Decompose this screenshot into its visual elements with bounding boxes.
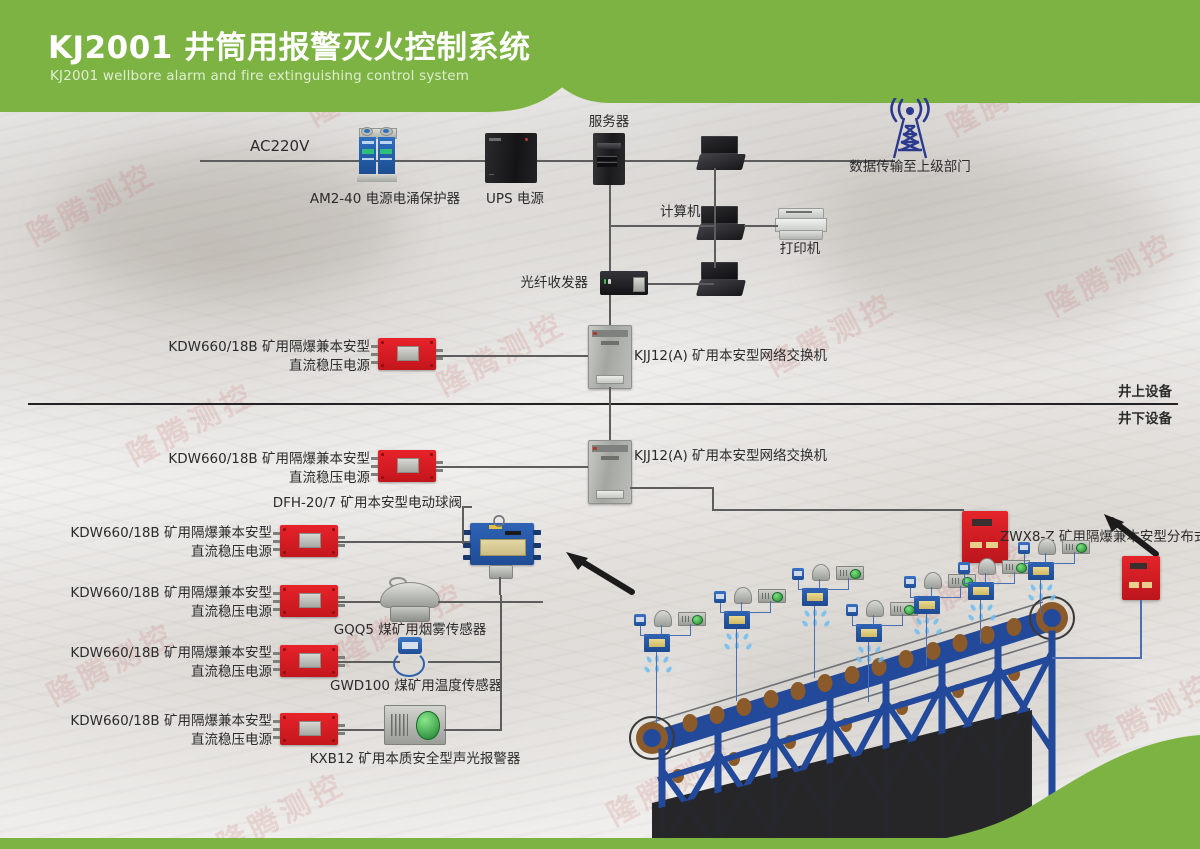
cable-lug <box>436 349 443 352</box>
bg-blob <box>820 160 1180 330</box>
spd-text <box>362 141 374 144</box>
label-above-ground: 井上设备 <box>1118 383 1172 402</box>
alarm-indicator-lamp <box>416 711 440 740</box>
cluster-temp-sensor[interactable] <box>634 614 646 626</box>
cluster-temp-sensor[interactable] <box>846 604 858 616</box>
switch-display <box>601 456 619 460</box>
sensor-body <box>398 637 422 654</box>
ground-level-divider <box>28 403 1178 405</box>
wire-server-to-pc2 <box>609 225 714 227</box>
page-title: KJ2001 井筒用报警灭火控制系统 <box>48 22 531 67</box>
smoke-sensor-device[interactable] <box>380 576 438 622</box>
wire-pc2-to-printer <box>744 225 778 227</box>
label-ps-ug-2-l1: KDW660/18B 矿用隔爆兼本安型 <box>0 524 272 543</box>
computer-1[interactable] <box>698 136 744 170</box>
cluster-water-spray <box>970 600 994 630</box>
rj45-port <box>633 277 646 291</box>
ups-device[interactable] <box>485 133 537 183</box>
sensor-base <box>390 606 429 622</box>
power-supply-ug-2[interactable] <box>280 525 338 557</box>
monitor-screen <box>701 206 738 224</box>
label-ps-ug-5-l1: KDW660/18B 矿用隔爆兼本安型 <box>0 712 272 731</box>
spd-module-a <box>359 137 376 175</box>
server-bay <box>597 162 617 167</box>
wire-ps5-to-alarm <box>338 729 384 731</box>
cluster-smoke-sensor[interactable] <box>978 558 996 575</box>
cluster-valve[interactable] <box>914 596 940 614</box>
cluster-water-spray <box>1030 580 1054 610</box>
spd-window <box>380 149 392 154</box>
label-ps-ug-2-l2: 直流稳压电源 <box>0 543 272 562</box>
spd-text <box>380 141 392 144</box>
cluster-smoke-sensor[interactable] <box>924 572 942 589</box>
cluster-temp-sensor[interactable] <box>1018 542 1030 554</box>
label-ps-ug-3-l2: 直流稳压电源 <box>0 603 272 622</box>
wire-controller-to-belt <box>1052 657 1142 659</box>
label-switch-underground: KJJ12(A) 矿用本安型网络交换机 <box>634 447 827 466</box>
cluster-smoke-sensor[interactable] <box>812 564 830 581</box>
cluster-smoke-sensor[interactable] <box>866 600 884 617</box>
valve-actuator <box>489 565 513 579</box>
cluster-alarm[interactable] <box>758 589 786 603</box>
cluster-valve[interactable] <box>724 611 750 629</box>
label-power-supply-surface-l1: KDW660/18B 矿用隔爆兼本安型 <box>10 338 370 357</box>
cluster-water-spray <box>804 606 828 636</box>
wire-ps2-to-valve <box>338 541 470 543</box>
wire-zwx-run <box>712 509 964 511</box>
cluster-valve[interactable] <box>856 624 882 642</box>
cluster-alarm[interactable] <box>1062 540 1090 554</box>
temperature-sensor-device[interactable] <box>392 637 428 675</box>
cluster-smoke-sensor[interactable] <box>734 587 752 604</box>
valve-lifting-ring <box>492 512 506 524</box>
label-server: 服务器 <box>569 113 649 132</box>
wire-ps4-to-temp <box>338 661 400 663</box>
footer-green-curve <box>880 735 1200 849</box>
cluster-valve[interactable] <box>644 634 670 652</box>
wire-smoke-to-bus <box>438 601 500 603</box>
alarm-speaker-grille <box>391 714 408 736</box>
page-header: KJ2001 井筒用报警灭火控制系统 KJ2001 wellbore alarm… <box>0 0 1200 112</box>
label-am2-40: AM2-40 电源电涌保护器 <box>305 190 465 209</box>
network-switch-surface[interactable] <box>588 325 632 389</box>
label-antenna: 数据传输至上级部门 <box>840 158 980 177</box>
host-display <box>972 519 992 526</box>
label-below-ground: 井下设备 <box>1118 410 1172 429</box>
valve-display <box>505 531 520 535</box>
nameplate <box>397 346 419 361</box>
power-supply-ug-1[interactable] <box>378 450 436 482</box>
label-media-converter: 光纤收发器 <box>448 274 588 293</box>
label-ps-ug-5-l2: 直流稳压电源 <box>0 731 272 750</box>
switch-indicator <box>593 332 597 335</box>
footer-green-bar <box>0 838 1200 849</box>
label-power-supply-surface-l2: 直流稳压电源 <box>10 357 370 376</box>
label-ps-ug-3-l1: KDW660/18B 矿用隔爆兼本安型 <box>0 584 272 603</box>
printer-device[interactable] <box>775 208 825 240</box>
cluster-temp-sensor[interactable] <box>714 591 726 603</box>
audible-visual-alarm-device[interactable] <box>384 705 446 745</box>
cluster-water-spray <box>916 614 940 644</box>
wire-alarm-to-bus <box>444 729 500 731</box>
wire-ac-bus <box>200 160 610 162</box>
status-led <box>604 279 606 284</box>
cable-lug <box>371 361 378 364</box>
spd-am2-40-device[interactable] <box>357 128 397 182</box>
power-supply-ug-5[interactable] <box>280 713 338 745</box>
wire-valve-stem <box>499 577 501 595</box>
cluster-water-spray <box>646 652 670 682</box>
computer-2[interactable] <box>698 206 744 240</box>
switch-indicator <box>593 447 597 450</box>
switch-display <box>601 341 619 345</box>
wire-computer-chain <box>714 168 716 268</box>
spd-din-rail <box>357 175 397 182</box>
network-switch-underground[interactable] <box>588 440 632 504</box>
label-audible-visual-alarm: KXB12 矿用本质安全型声光报警器 <box>305 750 525 769</box>
antenna-tower-icon <box>880 98 940 160</box>
cluster-valve[interactable] <box>1028 562 1054 580</box>
label-ps-ug-4-l1: KDW660/18B 矿用隔爆兼本安型 <box>0 644 272 663</box>
cluster-temp-sensor[interactable] <box>958 562 970 574</box>
monitor-screen <box>701 136 738 154</box>
spd-module-b <box>378 137 395 175</box>
bg-blob <box>60 150 400 300</box>
label-computer: 计算机 <box>660 203 701 222</box>
computer-base <box>696 224 746 240</box>
cluster-water-spray <box>726 629 750 659</box>
wire-zwx-drop <box>712 487 714 509</box>
status-led <box>608 279 610 284</box>
cluster-water-spray <box>858 642 882 672</box>
controller-keypad <box>1142 582 1152 587</box>
sensor-dome <box>380 582 440 608</box>
server-bay <box>597 156 617 161</box>
wire-temp-to-bus <box>428 661 500 663</box>
power-supply-ug-4[interactable] <box>280 645 338 677</box>
server-device[interactable] <box>593 133 625 185</box>
nameplate <box>397 458 419 473</box>
spd-text <box>362 158 374 161</box>
printer-output-tray <box>779 230 823 240</box>
label-ps-ug-1-l2: 直流稳压电源 <box>10 469 370 488</box>
printer-paper-slot <box>786 211 812 214</box>
cluster-valve[interactable] <box>802 588 828 606</box>
controller-keypad <box>1129 582 1139 587</box>
wire-ps1-to-switch-ug <box>436 466 588 468</box>
wire-ps-to-switch-surface <box>436 355 588 357</box>
belt-head-controller[interactable] <box>1122 556 1160 600</box>
cluster-smoke-sensor[interactable] <box>654 610 672 627</box>
nameplate <box>480 539 526 556</box>
power-supply-surface[interactable] <box>378 338 436 370</box>
label-ps-ug-4-l2: 直流稳压电源 <box>0 663 272 682</box>
computer-base <box>696 154 746 170</box>
diagram-page: 隆腾测控 隆腾测控 隆腾测控 隆腾测控 隆腾测控 隆腾测控 隆腾测控 隆腾测控 … <box>0 0 1200 849</box>
cluster-alarm[interactable] <box>678 612 706 626</box>
wire-sensor-bus <box>500 595 502 731</box>
cluster-smoke-sensor[interactable] <box>1038 538 1056 555</box>
switch-top-panel <box>592 330 629 336</box>
label-ps-ug-1-l1: KDW660/18B 矿用隔爆兼本安型 <box>10 450 370 469</box>
ups-vent <box>489 174 494 176</box>
wire-surface-to-underground <box>609 387 611 447</box>
cluster-valve[interactable] <box>968 582 994 600</box>
wire-valve-label-drop <box>462 506 464 544</box>
monitor-screen <box>701 262 738 280</box>
label-temperature-sensor: GWD100 煤矿用温度传感器 <box>330 677 495 696</box>
cable-lug <box>371 353 378 356</box>
spd-terminal <box>380 127 392 136</box>
server-drive-bay <box>597 143 620 148</box>
cable-lug <box>371 345 378 348</box>
label-electric-ball-valve: DFH-20/7 矿用本安型电动球阀 <box>200 494 462 513</box>
ups-panel-strip <box>489 138 500 141</box>
ups-power-led <box>525 138 529 141</box>
cluster-temp-sensor[interactable] <box>792 568 804 580</box>
controller-display <box>1130 563 1147 569</box>
electric-ball-valve-device[interactable] <box>470 523 534 565</box>
power-supply-ug-3[interactable] <box>280 585 338 617</box>
switch-top-panel <box>592 445 629 451</box>
wire-controller-drop <box>1140 600 1142 658</box>
page-subtitle: KJ2001 wellbore alarm and fire extinguis… <box>50 68 469 84</box>
wire-switch-to-zwx <box>630 487 714 489</box>
cluster-alarm[interactable] <box>836 566 864 580</box>
label-ups: UPS 电源 <box>460 190 570 209</box>
computer-3[interactable] <box>698 262 744 296</box>
cluster-temp-sensor[interactable] <box>904 576 916 588</box>
spd-text <box>380 158 392 161</box>
label-printer: 打印机 <box>765 240 835 259</box>
cable-lug <box>436 357 443 360</box>
switch-nameplate <box>596 490 625 499</box>
switch-nameplate <box>596 375 625 384</box>
spd-window <box>362 149 374 154</box>
label-switch-surface: KJJ12(A) 矿用本安型网络交换机 <box>634 347 827 366</box>
sensor-cable-loop <box>393 651 424 677</box>
media-converter-device[interactable] <box>600 271 648 295</box>
label-ac220v: AC220V <box>250 137 309 156</box>
